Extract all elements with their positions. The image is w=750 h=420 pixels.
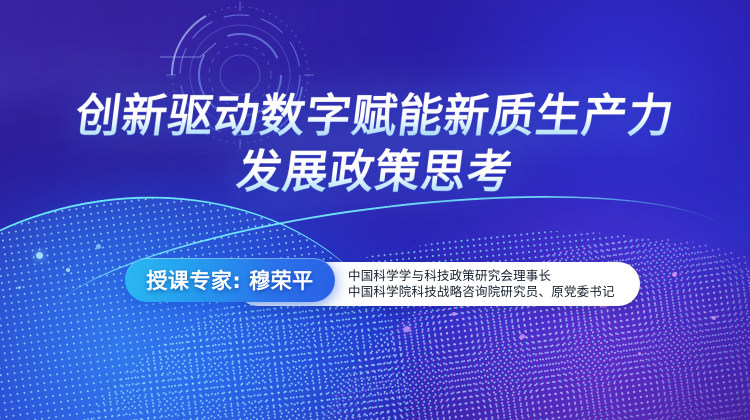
credential-line-1: 中国科学学与科技政策研究会理事长 <box>348 268 615 284</box>
banner-title: 创新驱动数字赋能新质生产力 发展政策思考 <box>0 88 750 200</box>
speaker-badge-label: 授课专家: 穆荣平 <box>146 265 313 295</box>
speaker-badge: 授课专家: 穆荣平 <box>125 258 335 302</box>
title-line-1: 创新驱动数字赋能新质生产力 <box>0 88 750 144</box>
credentials-text: 中国科学学与科技政策研究会理事长 中国科学院科技战略咨询院研究员、原党委书记 <box>348 268 615 300</box>
speaker-row: 中国科学学与科技政策研究会理事长 中国科学院科技战略咨询院研究员、原党委书记 授… <box>0 258 750 310</box>
course-banner: 创新驱动数字赋能新质生产力 发展政策思考 中国科学学与科技政策研究会理事长 中国… <box>0 0 750 420</box>
title-line-2: 发展政策思考 <box>0 144 750 200</box>
credential-line-2: 中国科学院科技战略咨询院研究员、原党委书记 <box>348 284 615 300</box>
